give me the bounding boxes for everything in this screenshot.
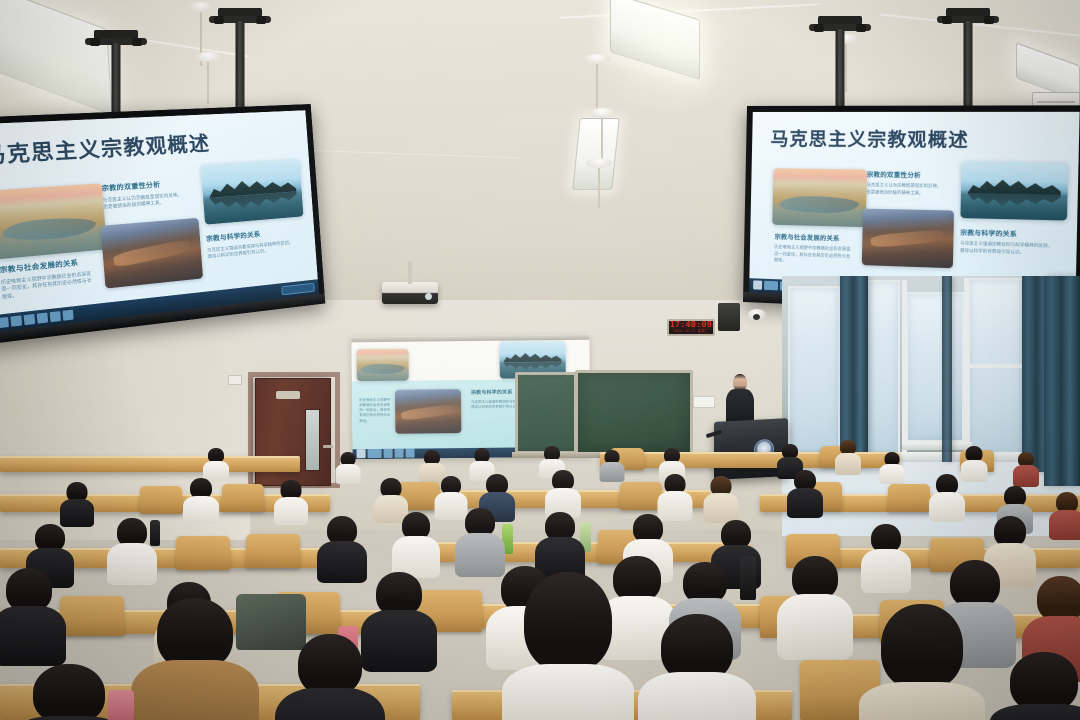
ppt-icon[interactable] xyxy=(37,313,48,324)
seated-student xyxy=(290,634,370,720)
ceiling-projector xyxy=(382,282,438,304)
ceiling-light-fixture xyxy=(572,118,620,190)
browser-icon[interactable] xyxy=(11,316,23,327)
tiered-lecture-desk xyxy=(0,456,300,472)
display-ceiling-mount xyxy=(86,30,146,112)
great-wall-photo xyxy=(395,389,462,433)
water-bottle xyxy=(108,690,134,720)
seated-student xyxy=(786,556,844,646)
seated-student xyxy=(150,598,240,720)
slide-heading-1: 宗教的双重性分析 xyxy=(101,179,160,193)
security-camera xyxy=(748,309,766,321)
display-ceiling-mount xyxy=(938,8,998,112)
classroom-window[interactable] xyxy=(788,286,840,454)
projector-lens xyxy=(425,293,432,300)
seated-student xyxy=(276,480,306,520)
ppt-icon[interactable] xyxy=(395,449,404,458)
slide-heading-3: 宗教与科学的关系 xyxy=(960,227,1017,238)
slide-heading-3: 宗教与科学的关系 xyxy=(206,229,261,243)
great-wall-photo xyxy=(862,208,955,269)
seated-student xyxy=(866,524,906,582)
start-icon[interactable] xyxy=(753,281,762,290)
seated-student xyxy=(836,440,860,472)
seated-student xyxy=(548,470,578,512)
great-wall-photo xyxy=(101,217,202,289)
window-mullion xyxy=(964,278,969,458)
slide-heading-3: 宗教与科学的关系 xyxy=(471,389,513,396)
seated-student xyxy=(1004,652,1080,720)
lecturer-at-podium xyxy=(725,374,755,426)
slide-heading-1: 宗教的双重性分析 xyxy=(867,169,921,179)
explorer-icon[interactable] xyxy=(368,449,382,458)
led-clock-date: 2024-10-22 星期二 xyxy=(673,330,708,333)
folder-icon[interactable] xyxy=(406,449,415,458)
door-plate xyxy=(276,391,300,399)
slide-paragraph-2: 历史唯物主义视野中宗教随社会形态演变而一同变化，其存在有其历史必然性与长期性。 xyxy=(774,244,852,265)
window-mullion xyxy=(968,364,1024,368)
seated-student xyxy=(370,572,428,658)
karst-mountain-reflection-photo xyxy=(200,159,303,225)
seated-student xyxy=(1014,452,1038,484)
seated-student xyxy=(876,604,968,720)
seated-student xyxy=(706,476,736,518)
tiered-lecture-seat xyxy=(176,536,230,570)
classroom-window[interactable] xyxy=(968,278,1024,458)
seated-student xyxy=(962,446,986,478)
seated-student xyxy=(654,614,740,720)
tiered-lecture-seat xyxy=(60,596,124,636)
tiered-lecture-seat xyxy=(888,484,930,512)
desert-river-photo xyxy=(356,349,409,381)
wall-speaker xyxy=(718,303,740,331)
green-chalkboard xyxy=(515,372,577,454)
window-curtain[interactable] xyxy=(942,276,952,462)
wall-notice xyxy=(693,396,715,408)
slide-heading-2: 宗教与社会发展的关系 xyxy=(775,232,840,243)
display-ceiling-mount xyxy=(810,16,870,112)
tiered-lecture-seat xyxy=(620,482,662,510)
slide-paragraph-1: 马克思主义认为宗教既是现实的反映，也是被统治阶级的精神工具。 xyxy=(866,182,944,196)
seated-student xyxy=(600,450,624,480)
slide-paragraph-1: 马克思主义认为宗教既是现实的反映，也是被统治阶级的精神工具。 xyxy=(102,191,186,211)
seated-student xyxy=(790,470,820,512)
window-curtain[interactable] xyxy=(840,276,868,466)
ceiling-pendant xyxy=(598,166,600,208)
led-clock: 17:40:09 2024-10-22 星期二 xyxy=(667,319,715,336)
folder-icon[interactable] xyxy=(50,311,61,322)
seated-student xyxy=(322,516,362,572)
seated-student xyxy=(460,508,500,566)
seated-student xyxy=(24,664,114,720)
media-icon[interactable] xyxy=(24,314,36,325)
explorer-icon[interactable] xyxy=(764,281,778,291)
slide-paragraph-3: 马克思主义强调宗教信仰与科学精神的区别，倡导以科学的世界观引导认识。 xyxy=(207,239,297,260)
display-ceiling-mount xyxy=(210,8,270,108)
explorer-icon[interactable] xyxy=(0,317,9,329)
seated-student xyxy=(880,452,904,482)
slide-paragraph-3: 马克思主义强调宗教信仰与科学精神的区别，倡导以科学的世界观引导认识。 xyxy=(960,241,1056,257)
browser-icon[interactable] xyxy=(384,449,393,458)
tiered-lecture-seat xyxy=(246,534,300,568)
seated-student xyxy=(1052,492,1080,534)
seated-student xyxy=(0,568,58,652)
seated-student xyxy=(204,448,228,478)
desert-river-photo xyxy=(0,183,107,259)
seated-student xyxy=(186,478,216,518)
green-chalkboard xyxy=(575,370,693,456)
seated-student xyxy=(520,572,616,720)
seated-student xyxy=(396,512,436,568)
seated-student xyxy=(112,518,152,574)
karst-mountain-reflection-photo xyxy=(961,161,1068,220)
projector-stem xyxy=(408,262,412,284)
window-mullion xyxy=(902,280,907,456)
seated-student xyxy=(62,482,92,522)
app-icon[interactable] xyxy=(63,310,74,321)
tiered-lecture-seat xyxy=(222,484,264,512)
desert-river-photo xyxy=(772,168,867,227)
seated-student xyxy=(932,474,962,516)
seated-student xyxy=(540,512,580,570)
slide-paragraph-2: 历史唯物主义视野中宗教随社会形态演变而一同变化，其存在有其历史必然性与长期性。 xyxy=(359,398,393,424)
window-curtain[interactable] xyxy=(1044,276,1080,486)
slide-paragraph-2: 历史唯物主义视野中宗教随社会形态演变而一同变化，其存在有其历史必然性与长期性。 xyxy=(1,270,96,300)
light-switch-plate[interactable] xyxy=(228,375,242,385)
seated-student xyxy=(336,452,360,482)
classroom-window[interactable] xyxy=(906,292,964,442)
classroom-window[interactable] xyxy=(866,280,900,456)
water-bottle xyxy=(740,556,756,600)
door-handle[interactable] xyxy=(323,445,333,448)
tiered-lecture-seat xyxy=(140,486,182,514)
taskbar-tray[interactable] xyxy=(281,283,315,296)
door-window xyxy=(305,409,320,471)
ceiling-pendant xyxy=(207,60,209,104)
lecture-hall-photo: 马克思主义宗教观概述 宗教的双重性分析 马克思主义认为宗教既是现实的反映，也是被… xyxy=(0,0,1080,720)
seated-student xyxy=(660,474,690,516)
